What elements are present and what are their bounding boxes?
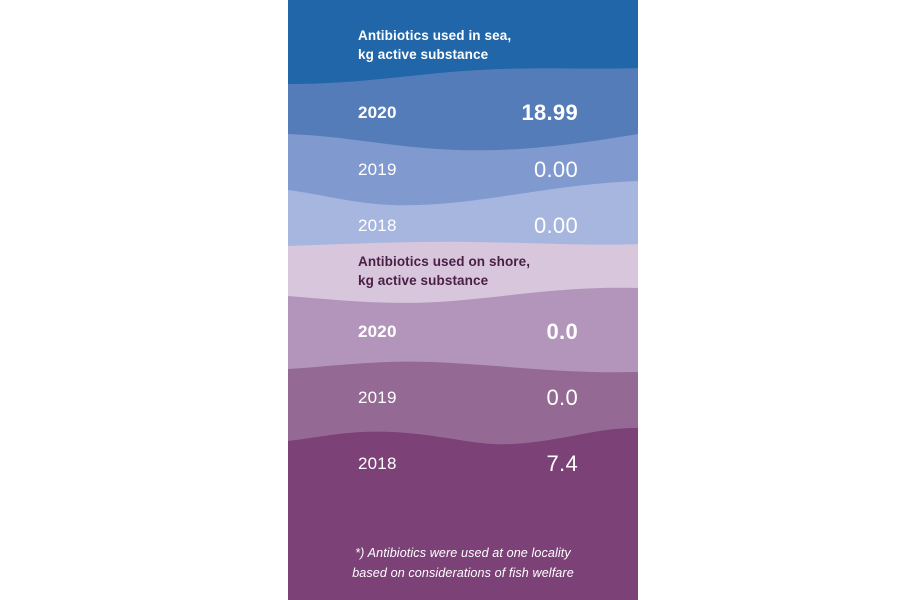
row-value: 0.0 [547, 319, 578, 345]
wave-background [288, 0, 638, 600]
shore-section-heading: Antibiotics used on shore, kg active sub… [358, 252, 638, 290]
infographic-canvas: Antibiotics used in sea, kg active subst… [0, 0, 900, 600]
row-year: 2019 [358, 160, 397, 180]
table-row: 2018 0.00 [288, 209, 638, 243]
row-year: 2019 [358, 388, 397, 408]
footnote: *) Antibiotics were used at one locality… [288, 544, 638, 583]
antibiotics-infographic-panel: Antibiotics used in sea, kg active subst… [288, 0, 638, 600]
row-year: 2018 [358, 454, 397, 474]
row-year: 2020 [358, 322, 397, 342]
sea-section-heading: Antibiotics used in sea, kg active subst… [358, 26, 638, 64]
row-value: 0.00 [534, 213, 578, 239]
table-row: 2019 0.00 [288, 153, 638, 187]
row-value: 0.0 [547, 385, 578, 411]
table-row: 2020 0.0 [288, 315, 638, 349]
row-value: 18.99 [521, 100, 578, 126]
row-year: 2020 [358, 103, 397, 123]
row-value: 0.00 [534, 157, 578, 183]
row-year: 2018 [358, 216, 397, 236]
table-row: 2018 7.4 [288, 447, 638, 481]
table-row: 2020 18.99 [288, 96, 638, 130]
table-row: 2019 0.0 [288, 381, 638, 415]
row-value: 7.4 [547, 451, 578, 477]
